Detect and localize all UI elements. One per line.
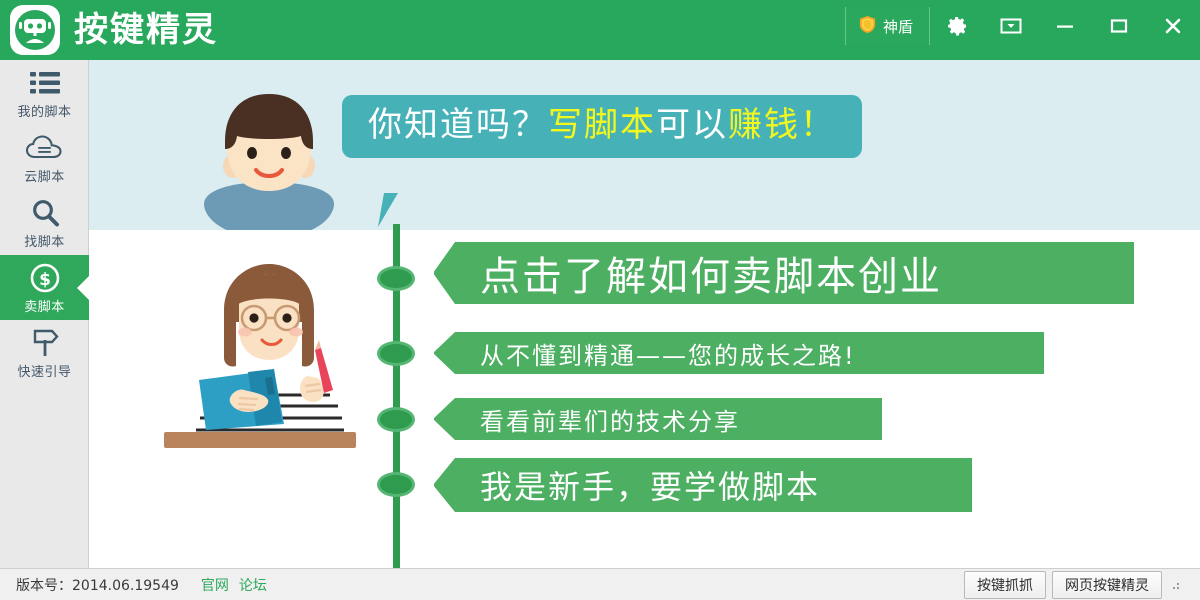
bubble-text-part3: 可以 <box>656 105 728 145</box>
promo-link-label: 看看前辈们的技术分享 <box>434 402 740 437</box>
dollar-circle-icon: $ <box>29 261 61 295</box>
promo-link-growth-path[interactable]: 从不懂到精通——您的成长之路! <box>434 332 1044 374</box>
minimize-to-tray-button[interactable] <box>984 7 1038 45</box>
list-icon <box>30 66 60 100</box>
maximize-icon <box>1108 17 1130 35</box>
app-logo: 按键精灵 <box>0 5 218 55</box>
status-links: 官网 论坛 <box>201 575 267 595</box>
bubble-text-part4: 赚钱！ <box>728 105 836 145</box>
title-bar: 按键精灵 神盾 <box>0 0 1200 60</box>
promo-link-label: 我是新手，要学做脚本 <box>434 462 820 508</box>
minimize-icon <box>1054 17 1076 35</box>
sidebar-item-quick-guide[interactable]: 快速引导 <box>0 320 89 385</box>
key-capture-button[interactable]: 按键抓抓 <box>964 571 1046 599</box>
web-keyboard-wizard-button[interactable]: 网页按键精灵 <box>1052 571 1162 599</box>
resize-grip[interactable] <box>1170 580 1180 590</box>
maximize-button[interactable] <box>1092 7 1146 45</box>
sidebar-item-sell-scripts[interactable]: $ 卖脚本 <box>0 255 89 320</box>
sidebar-item-find-scripts[interactable]: 找脚本 <box>0 190 89 255</box>
timeline-node <box>377 472 415 497</box>
app-title: 按键精灵 <box>74 13 218 47</box>
svg-text:$: $ <box>39 270 51 290</box>
promo-links-list: 点击了解如何卖脚本创业 从不懂到精通——您的成长之路! 看看前辈们的技术分享 我… <box>434 230 1200 568</box>
timeline-node <box>377 266 415 291</box>
settings-button[interactable] <box>930 7 984 45</box>
official-site-link[interactable]: 官网 <box>201 575 229 595</box>
bubble-tail <box>378 193 398 227</box>
robot-logo-icon <box>10 5 60 55</box>
sidebar-item-my-scripts[interactable]: 我的脚本 <box>0 60 89 125</box>
minimize-button[interactable] <box>1038 7 1092 45</box>
sidebar: 我的脚本 云脚本 找脚本 <box>0 60 89 568</box>
signpost-icon <box>28 326 62 360</box>
close-icon <box>1162 16 1184 36</box>
search-icon <box>30 196 60 230</box>
shield-status-button[interactable]: 神盾 <box>845 7 930 45</box>
cloud-icon <box>26 131 64 165</box>
application-window: 按键精灵 神盾 <box>0 0 1200 600</box>
bubble-text-part2: 写脚本 <box>548 105 656 145</box>
sidebar-item-label: 卖脚本 <box>24 296 65 315</box>
bubble-text-part1: 你知道吗？ <box>368 105 548 145</box>
boy-avatar-illustration <box>184 86 354 230</box>
timeline-node <box>377 341 415 366</box>
sidebar-item-label: 云脚本 <box>24 166 65 185</box>
promo-link-beginner[interactable]: 我是新手，要学做脚本 <box>434 458 972 512</box>
promo-bubble: 你知道吗？写脚本可以赚钱！ <box>342 95 862 158</box>
shield-label: 神盾 <box>883 16 913 37</box>
tray-dropdown-icon <box>1000 17 1022 35</box>
promo-link-label: 点击了解如何卖脚本创业 <box>434 244 942 302</box>
sidebar-item-label: 我的脚本 <box>17 101 71 120</box>
close-button[interactable] <box>1146 7 1200 45</box>
promo-link-sell-scripts[interactable]: 点击了解如何卖脚本创业 <box>434 242 1134 304</box>
window-controls: 神盾 <box>845 0 1200 60</box>
girl-reading-illustration <box>144 252 374 482</box>
promo-banner: 你知道吗？写脚本可以赚钱！ <box>89 60 1200 230</box>
promo-link-label: 从不懂到精通——您的成长之路! <box>434 336 856 371</box>
sidebar-item-cloud-scripts[interactable]: 云脚本 <box>0 125 89 190</box>
content-area: 你知道吗？写脚本可以赚钱！ <box>89 60 1200 568</box>
version-label: 版本号：2014.06.19549 <box>16 575 179 595</box>
gear-icon <box>945 14 969 38</box>
status-bar-buttons: 按键抓抓 网页按键精灵 <box>964 571 1192 599</box>
timeline-node <box>377 407 415 432</box>
sidebar-item-label: 快速引导 <box>17 361 71 380</box>
forum-link[interactable]: 论坛 <box>239 575 267 595</box>
golden-shield-icon <box>858 15 877 38</box>
status-bar: 版本号：2014.06.19549 官网 论坛 按键抓抓 网页按键精灵 <box>0 568 1200 600</box>
promo-link-tech-sharing[interactable]: 看看前辈们的技术分享 <box>434 398 882 440</box>
sidebar-item-label: 找脚本 <box>24 231 65 250</box>
promo-list-area: 点击了解如何卖脚本创业 从不懂到精通——您的成长之路! 看看前辈们的技术分享 我… <box>89 230 1200 568</box>
